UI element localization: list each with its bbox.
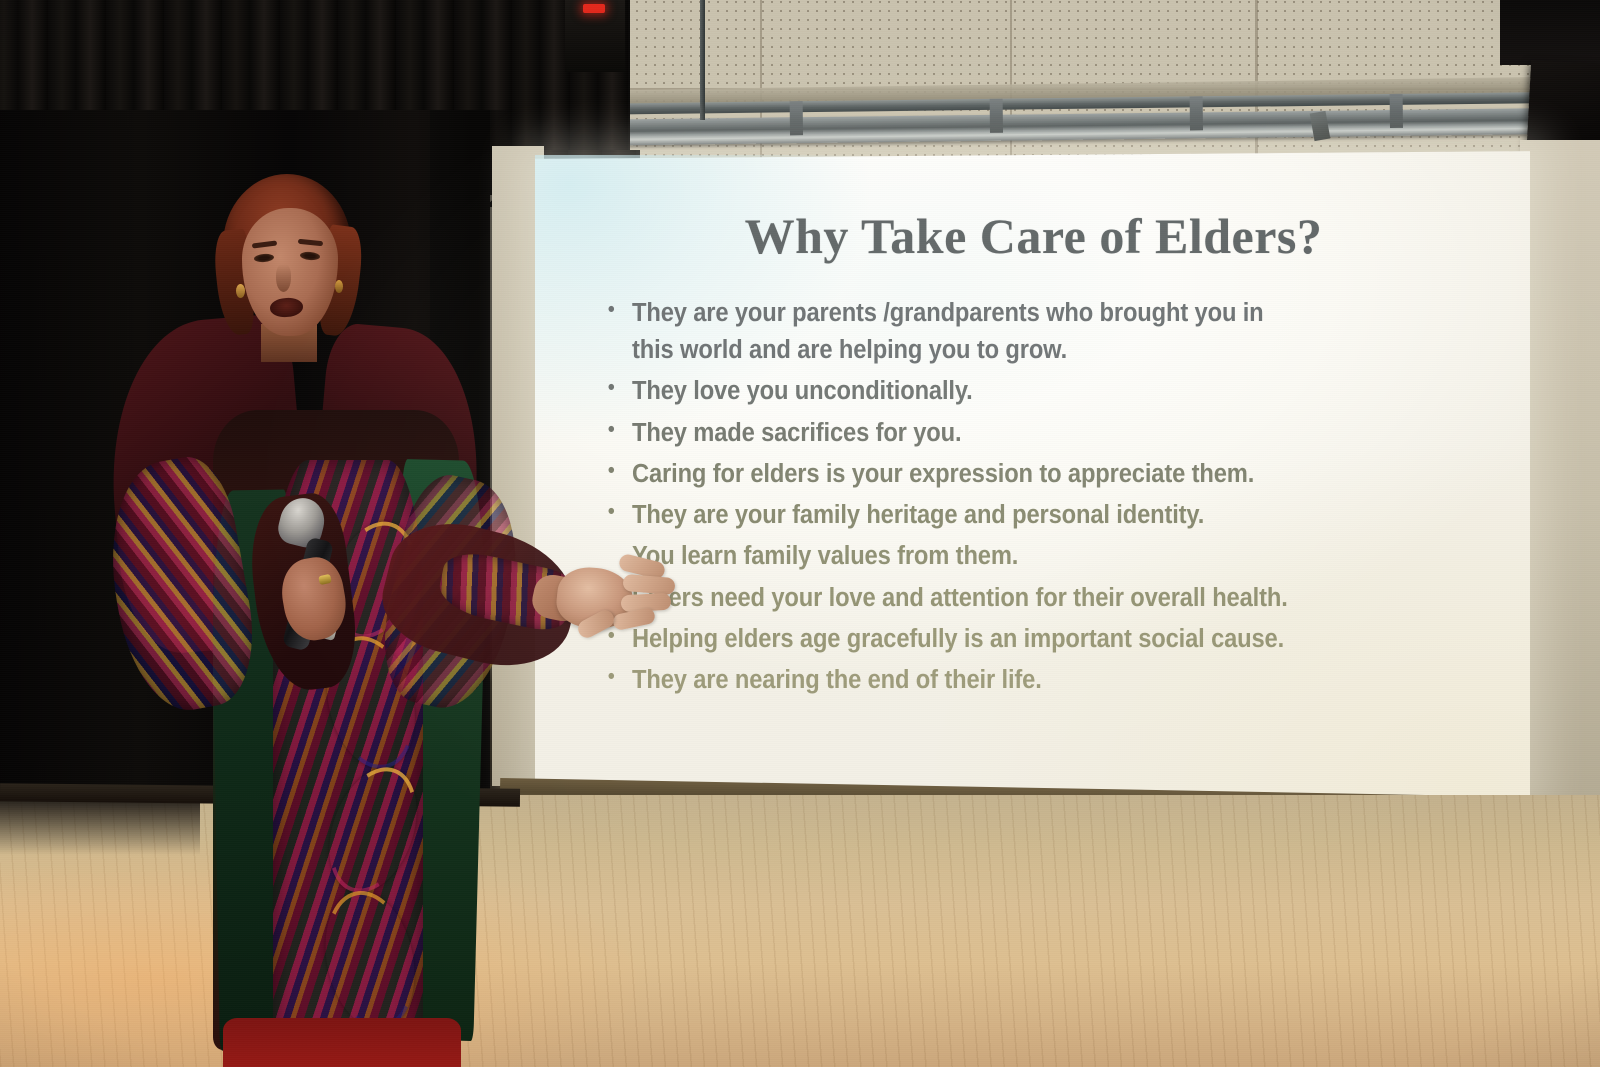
scene-photograph: Why Take Care of Elders? They are your p…: [0, 0, 1600, 1067]
truss-clamp: [1190, 96, 1203, 130]
embroidery-swirl: [313, 755, 423, 905]
slide-bullet: They are nearing the end of their life.: [632, 662, 1430, 699]
truss-clamp: [790, 101, 803, 135]
truss-clamp: [990, 99, 1003, 133]
earring-right: [335, 280, 343, 293]
slide-bullet: They made sacrifices for you.: [632, 415, 1430, 452]
presentation-slide: Why Take Care of Elders? They are your p…: [535, 155, 1530, 805]
slide-bullet-list: They are your parents /grandparents who …: [577, 295, 1490, 699]
slide-bullet: They are your parents /grandparents who …: [632, 295, 1430, 369]
projection-screen: Why Take Care of Elders? They are your p…: [535, 151, 1530, 809]
nose: [276, 264, 291, 292]
slide-bullet: Helping elders age gracefully is an impo…: [632, 621, 1430, 658]
slide-bullet-continuation: You learn family values from them.: [632, 538, 1430, 575]
earring-left: [236, 284, 245, 298]
slide-bullet: Caring for elders is your expression to …: [632, 456, 1430, 493]
truss-clamp: [1390, 94, 1403, 128]
wall-panel-right: [1520, 140, 1600, 800]
red-trousers: [223, 1018, 461, 1067]
embroidery-swirl: [313, 883, 423, 1038]
black-stage-curtain-right: [1500, 0, 1600, 65]
truss-support-rod: [700, 0, 705, 120]
slide-bullet: Elders need your love and attention for …: [632, 580, 1430, 617]
slide-bullet: They are your family heritage and person…: [632, 497, 1430, 534]
slide-bullet: They love you unconditionally.: [632, 373, 1430, 410]
presenter: [95, 160, 515, 1067]
slide-title: Why Take Care of Elders?: [577, 207, 1490, 265]
red-led-indicator: [583, 4, 605, 13]
